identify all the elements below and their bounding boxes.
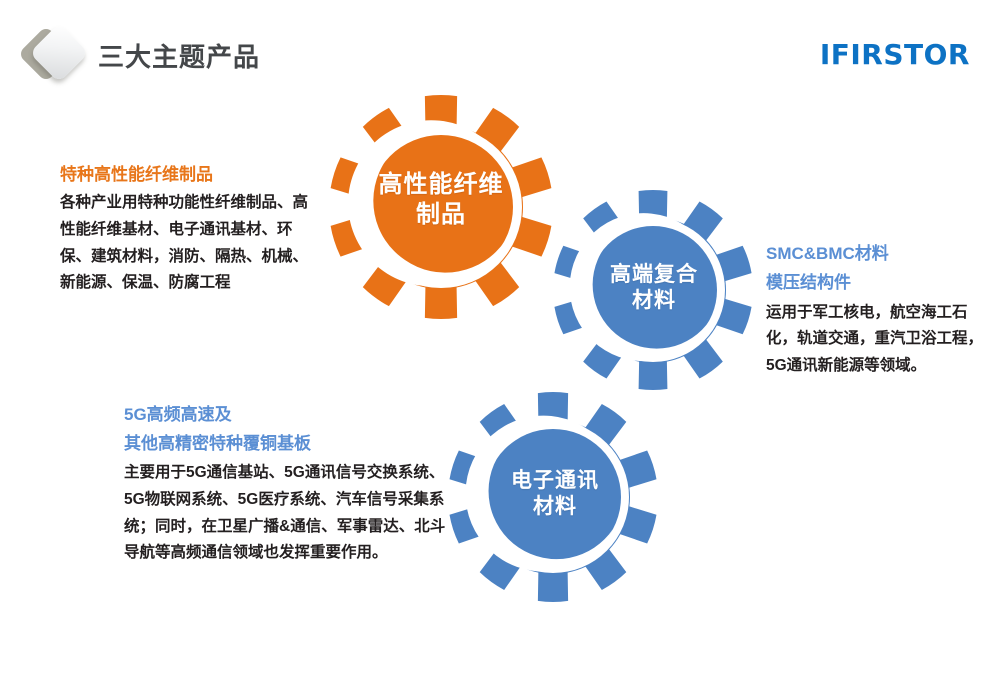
fiveg-heading-line1: 5G高频高速及: [124, 400, 454, 429]
text-block-fiber: 特种高性能纤维制品 各种产业用特种功能性纤维制品、高性能纤维基材、电子通讯基材、…: [60, 163, 320, 297]
gear-fiber-label: 高性能纤维 制品: [356, 170, 526, 230]
gear-electronics-label: 电子通讯 材料: [480, 468, 630, 521]
slide-canvas: 三大主题产品 IFIRSTOR: [0, 0, 1000, 692]
brand-logo: IFIRSTOR: [820, 38, 970, 71]
double-diamond-icon: [26, 28, 88, 90]
gear-composite-label: 高端复合 材料: [578, 262, 730, 315]
smc-body: 运用于军工核电，航空海工石化，轨道交通，重汽卫浴工程，5G通讯新能源等领域。: [766, 300, 990, 380]
text-block-smc: SMC&BMC材料 模压结构件 运用于军工核电，航空海工石化，轨道交通，重汽卫浴…: [766, 240, 990, 380]
smc-heading-line1: SMC&BMC材料: [766, 240, 990, 269]
page-title: 三大主题产品: [98, 37, 260, 74]
text-block-5g: 5G高频高速及 其他高精密特种覆铜基板 主要用于5G通信基站、5G通讯信号交换系…: [124, 400, 454, 567]
fiveg-body: 主要用于5G通信基站、5G通讯信号交换系统、5G物联网系统、5G医疗系统、汽车信…: [124, 460, 454, 567]
fiber-heading: 特种高性能纤维制品: [60, 163, 320, 186]
smc-heading-line2: 模压结构件: [766, 269, 990, 298]
fiber-body: 各种产业用特种功能性纤维制品、高性能纤维基材、电子通讯基材、环保、建筑材料，消防…: [60, 190, 320, 297]
fiveg-heading-line2: 其他高精密特种覆铜基板: [124, 429, 454, 458]
slide-header: 三大主题产品 IFIRSTOR: [0, 0, 1000, 96]
